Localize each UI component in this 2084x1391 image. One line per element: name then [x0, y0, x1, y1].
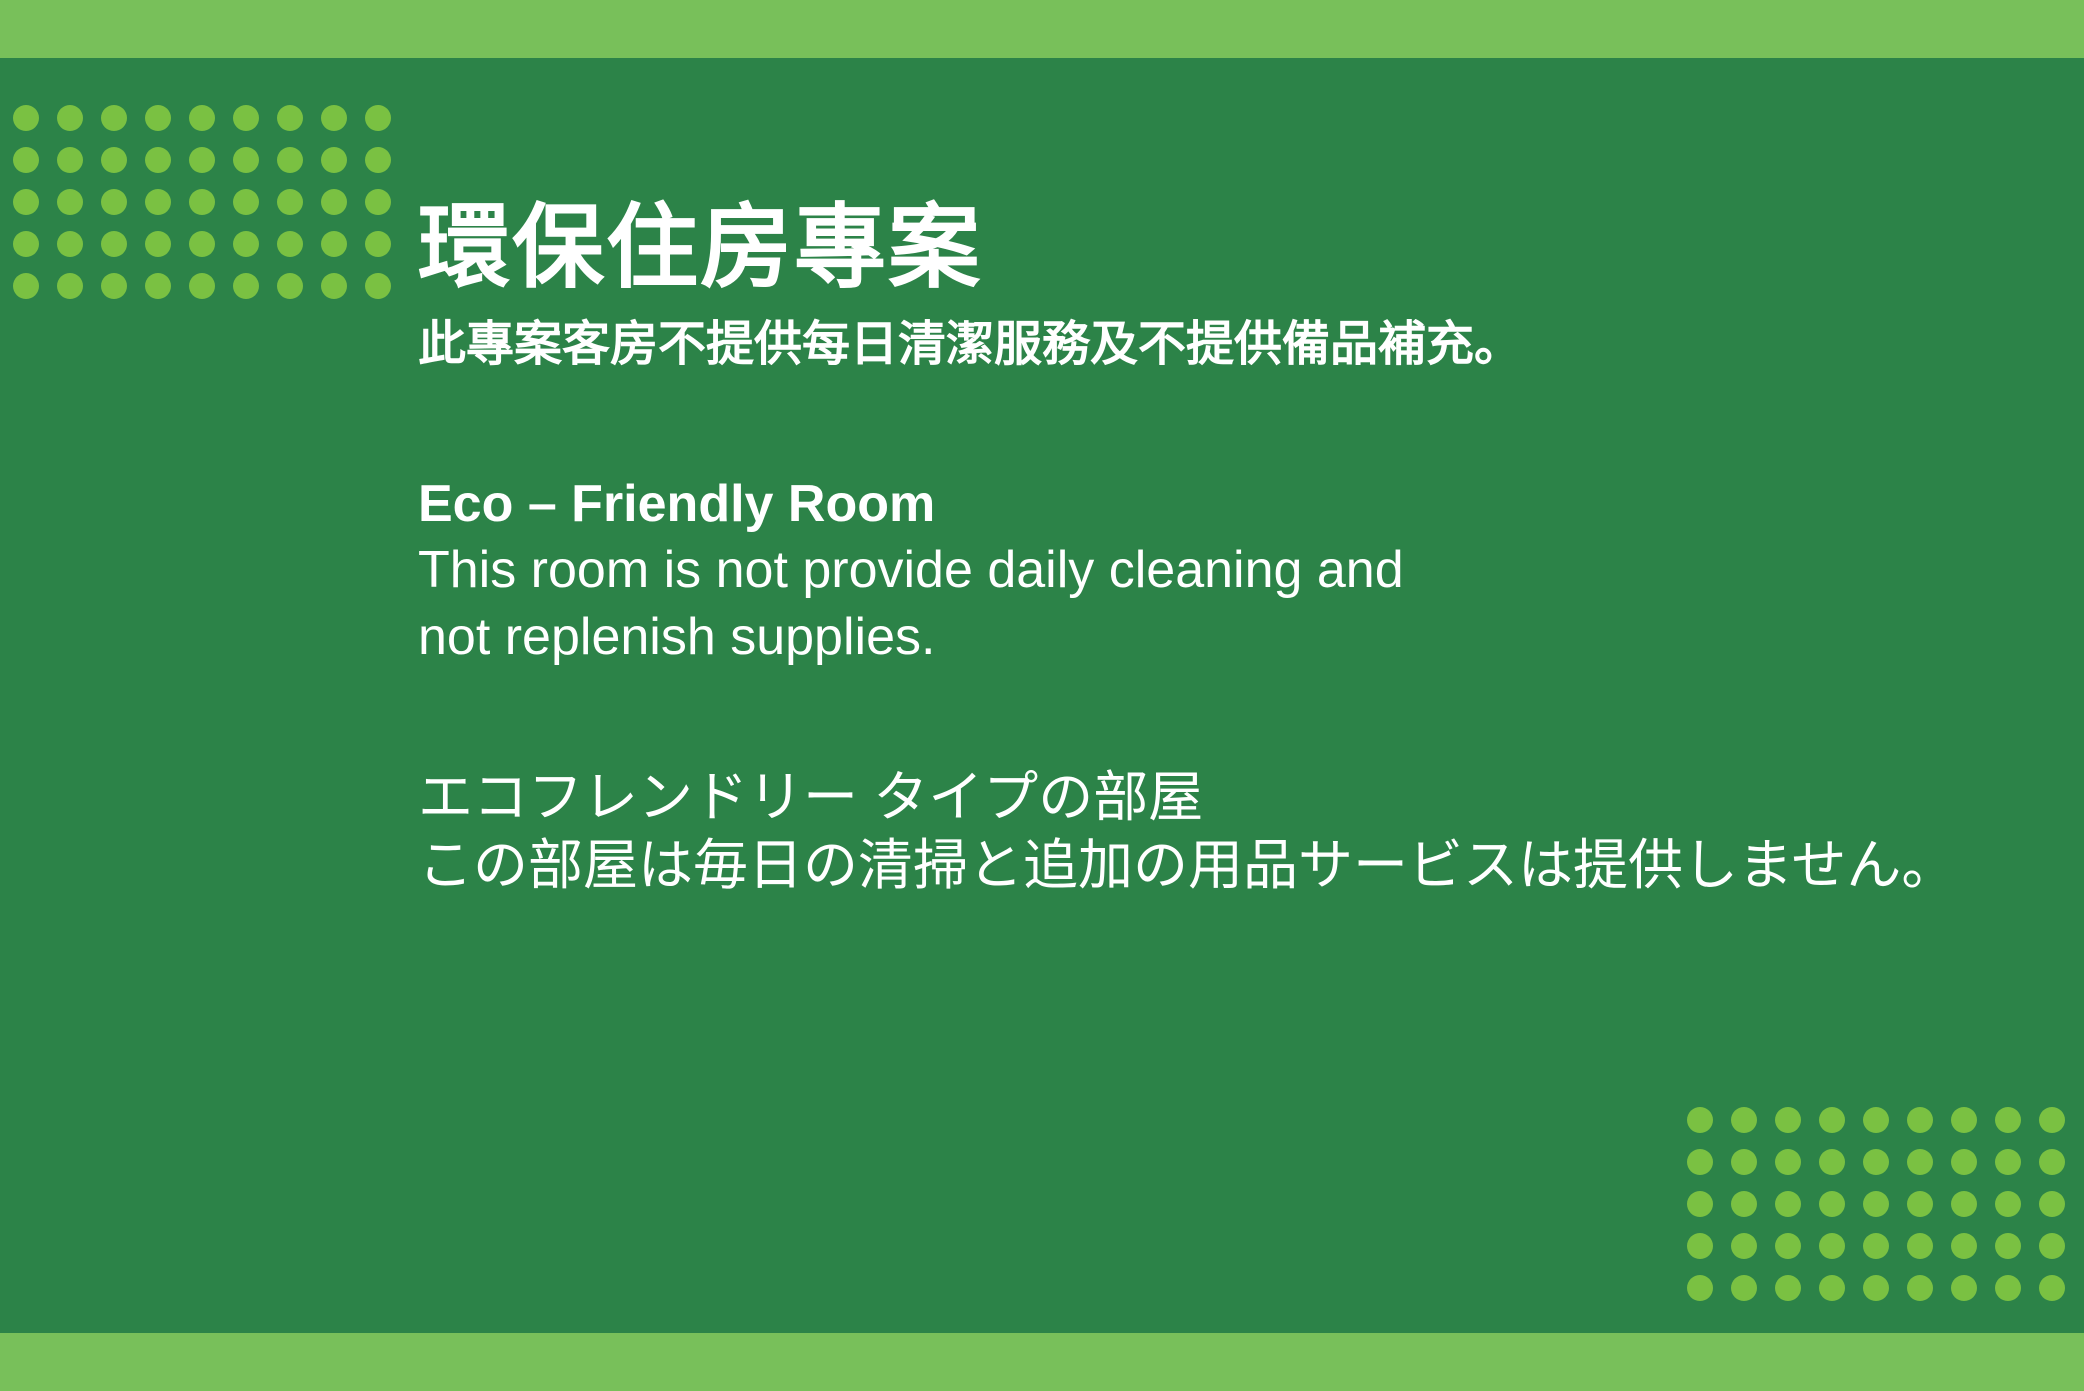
decorative-dot: [101, 231, 127, 257]
decorative-dot: [1819, 1149, 1845, 1175]
decorative-dot: [233, 231, 259, 257]
decorative-dot: [233, 273, 259, 299]
decorative-dot: [1819, 1107, 1845, 1133]
decorative-dot: [277, 273, 303, 299]
decorative-dot: [1863, 1275, 1889, 1301]
decorative-dot: [1907, 1149, 1933, 1175]
decorative-dot: [1951, 1107, 1977, 1133]
decorative-dot: [277, 147, 303, 173]
decorative-dot: [2039, 1107, 2065, 1133]
decorative-dot: [2039, 1191, 2065, 1217]
japanese-line-1: この部屋は毎日の清掃と追加の用品サービスは提供しません。: [418, 831, 1964, 900]
decorative-dot: [1819, 1233, 1845, 1259]
page-title: 環保住房專案: [418, 196, 1964, 301]
decorative-dot: [1775, 1107, 1801, 1133]
decorative-dot: [2039, 1233, 2065, 1259]
decorative-dot: [233, 189, 259, 215]
decorative-dot: [13, 231, 39, 257]
decorative-dot: [1775, 1191, 1801, 1217]
decorative-dot: [1951, 1191, 1977, 1217]
english-line-2: not replenish supplies.: [418, 604, 1964, 671]
decorative-dot: [101, 105, 127, 131]
decorative-dot: [145, 105, 171, 131]
decorative-dot: [1863, 1149, 1889, 1175]
decorative-dot: [1907, 1107, 1933, 1133]
slide-content: 環保住房專案 此專案客房不提供每日清潔服務及不提供備品補充。 Eco – Fri…: [418, 196, 1964, 900]
bottom-accent-bar: [0, 1333, 2084, 1391]
decorative-dot: [101, 273, 127, 299]
decorative-dot: [1907, 1191, 1933, 1217]
decorative-dot: [1863, 1107, 1889, 1133]
decorative-dot: [321, 147, 347, 173]
decorative-dot: [1775, 1275, 1801, 1301]
decorative-dot: [13, 147, 39, 173]
decorative-dot: [145, 147, 171, 173]
decorative-dot: [321, 231, 347, 257]
subtitle-chinese: 此專案客房不提供每日清潔服務及不提供備品補充。: [418, 315, 1964, 375]
decorative-dot: [321, 189, 347, 215]
decorative-dot: [189, 231, 215, 257]
decorative-dot: [1819, 1275, 1845, 1301]
decorative-dot: [1687, 1233, 1713, 1259]
decorative-dot: [1775, 1233, 1801, 1259]
decorative-dot: [233, 147, 259, 173]
decorative-dot: [1687, 1275, 1713, 1301]
decorative-dot: [189, 189, 215, 215]
decorative-dot: [145, 189, 171, 215]
eco-friendly-room-notice-slide: 環保住房專案 此專案客房不提供每日清潔服務及不提供備品補充。 Eco – Fri…: [0, 0, 2084, 1391]
decorative-dot: [189, 105, 215, 131]
decorative-dot: [57, 231, 83, 257]
decorative-dot: [365, 189, 391, 215]
english-line-1: This room is not provide daily cleaning …: [418, 537, 1964, 604]
decorative-dot: [1995, 1233, 2021, 1259]
decorative-dot: [1731, 1149, 1757, 1175]
decorative-dot: [1775, 1149, 1801, 1175]
decorative-dot: [321, 273, 347, 299]
decorative-dot-grid-top-left: [8, 100, 396, 304]
decorative-dot: [1687, 1149, 1713, 1175]
decorative-dot: [321, 105, 347, 131]
decorative-dot: [1819, 1191, 1845, 1217]
decorative-dot: [233, 105, 259, 131]
decorative-dot: [1863, 1191, 1889, 1217]
decorative-dot: [145, 273, 171, 299]
english-block: Eco – Friendly Room This room is not pro…: [418, 471, 1964, 671]
decorative-dot: [1951, 1275, 1977, 1301]
decorative-dot: [57, 105, 83, 131]
japanese-heading: エコフレンドリー タイプの部屋: [418, 763, 1964, 832]
decorative-dot: [1907, 1233, 1933, 1259]
decorative-dot: [1731, 1275, 1757, 1301]
decorative-dot: [13, 105, 39, 131]
decorative-dot-grid-bottom-right: [1682, 1102, 2070, 1306]
decorative-dot: [277, 231, 303, 257]
decorative-dot: [1863, 1233, 1889, 1259]
decorative-dot: [277, 189, 303, 215]
english-heading: Eco – Friendly Room: [418, 471, 1964, 538]
decorative-dot: [2039, 1149, 2065, 1175]
top-accent-bar: [0, 0, 2084, 58]
decorative-dot: [189, 273, 215, 299]
decorative-dot: [1731, 1107, 1757, 1133]
decorative-dot: [1995, 1191, 2021, 1217]
decorative-dot: [365, 147, 391, 173]
decorative-dot: [2039, 1275, 2065, 1301]
decorative-dot: [1995, 1275, 2021, 1301]
decorative-dot: [1687, 1107, 1713, 1133]
decorative-dot: [1731, 1191, 1757, 1217]
decorative-dot: [101, 147, 127, 173]
decorative-dot: [365, 273, 391, 299]
decorative-dot: [57, 147, 83, 173]
decorative-dot: [57, 273, 83, 299]
decorative-dot: [57, 189, 83, 215]
decorative-dot: [1995, 1107, 2021, 1133]
decorative-dot: [1951, 1149, 1977, 1175]
decorative-dot: [13, 273, 39, 299]
decorative-dot: [101, 189, 127, 215]
decorative-dot: [145, 231, 171, 257]
decorative-dot: [13, 189, 39, 215]
decorative-dot: [1951, 1233, 1977, 1259]
japanese-block: エコフレンドリー タイプの部屋 この部屋は毎日の清掃と追加の用品サービスは提供し…: [418, 763, 1964, 901]
decorative-dot: [277, 105, 303, 131]
decorative-dot: [189, 147, 215, 173]
decorative-dot: [1995, 1149, 2021, 1175]
decorative-dot: [1687, 1191, 1713, 1217]
decorative-dot: [1731, 1233, 1757, 1259]
decorative-dot: [365, 231, 391, 257]
decorative-dot: [1907, 1275, 1933, 1301]
decorative-dot: [365, 105, 391, 131]
